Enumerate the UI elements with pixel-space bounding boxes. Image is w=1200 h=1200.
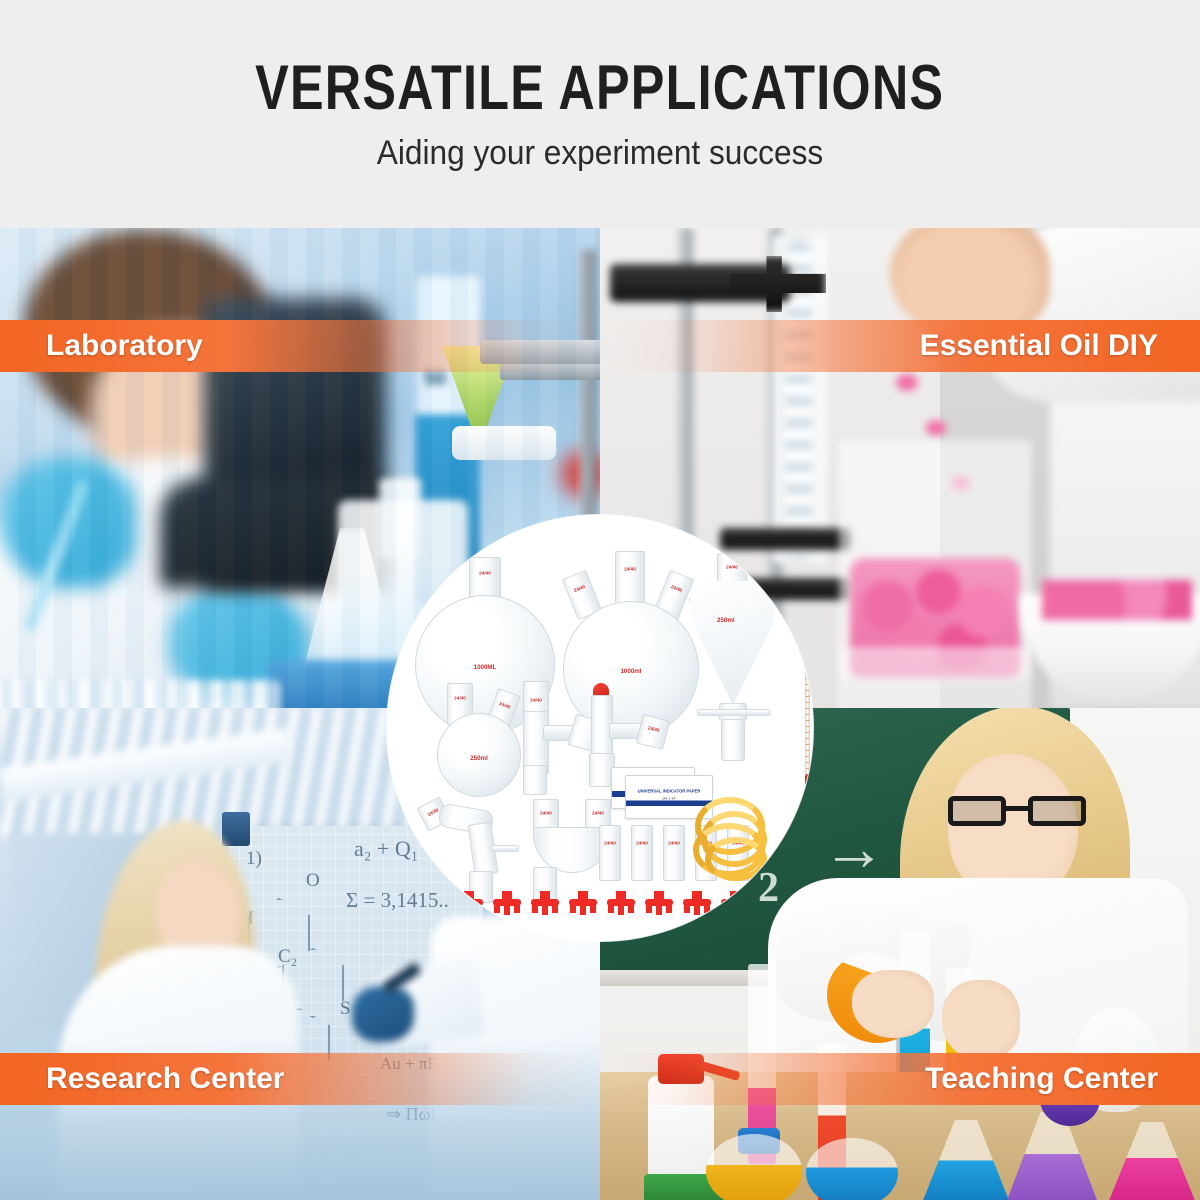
joint-clip: [607, 891, 635, 913]
pipette: [23, 479, 90, 634]
joint-label: 24/40: [604, 840, 616, 845]
eyeglass-lens-right: [1028, 796, 1086, 826]
label-band-teaching-center: Teaching Center: [600, 1053, 1200, 1105]
page-title: VERSATILE APPLICATIONS: [255, 55, 944, 121]
two-neck-round-bottom-flask: 250ml: [437, 713, 521, 797]
researcher-labcoat: [0, 458, 400, 708]
microscope-stage: [160, 478, 390, 588]
student-hand-right: [942, 980, 1020, 1060]
flask-volume-marking: 250ml: [470, 755, 488, 762]
board-clip: [222, 812, 250, 846]
eyeglass-bridge: [1006, 806, 1028, 811]
blue-glove-right: [170, 584, 310, 704]
stopcock: [452, 426, 556, 460]
glass-stopper: 24/40: [631, 825, 653, 881]
joint-label: 24/40: [427, 807, 440, 817]
page-header: VERSATILE APPLICATIONS Aiding your exper…: [0, 0, 1200, 228]
joint-label: 24/40: [592, 811, 604, 816]
falling-petal: [926, 420, 946, 436]
joint-label: 24/40: [647, 725, 660, 733]
joint-clip: [531, 891, 559, 913]
flask-center-neck: 24/40: [615, 551, 645, 607]
joint-label: 24/40: [726, 565, 738, 570]
funnel-stem: [721, 719, 745, 761]
rose-petals-in-bowl: [1042, 580, 1192, 620]
funnel-stopcock-arm: [697, 709, 771, 716]
joint-clip: [683, 891, 711, 913]
ph-box-title: UNIVERSAL INDICATOR PAPER: [638, 789, 701, 794]
board-note: O: [306, 870, 320, 892]
separatory-funnel: [689, 577, 777, 705]
panel-label-research-center: Research Center: [46, 1062, 284, 1096]
flask-blue: [806, 1138, 898, 1200]
joint-label: 24/40: [668, 840, 680, 845]
eyeglasses-icon: [948, 796, 1086, 826]
glass-stopper: 24/40: [599, 825, 621, 881]
panel-label-essential-oil: Essential Oil DIY: [920, 329, 1158, 363]
glass-stopper: 24/40: [663, 825, 685, 881]
joint-label: 24/40: [624, 566, 636, 571]
glassware-kit: 24/40 1000ML 24/40 24/40 24/40 1000ml 24…: [387, 515, 813, 941]
label-band-research-center: Research Center: [0, 1053, 600, 1105]
joint-clip: [417, 891, 445, 913]
ph-box-range: pH 1-14: [662, 797, 675, 801]
rubber-tubing-coil: [693, 793, 779, 879]
panel-label-teaching-center: Teaching Center: [925, 1062, 1158, 1096]
joint-label: 24/40: [540, 811, 552, 816]
vacuum-adapter-outlet: 24/40: [636, 714, 670, 750]
joint-clip: [455, 891, 483, 913]
distillation-adapter-bottom: [523, 765, 547, 795]
blue-glove-writing: [352, 986, 414, 1042]
joint-clip: [721, 891, 749, 913]
joint-label: 24/40: [636, 840, 648, 845]
red-background-blur: [556, 446, 600, 502]
thermometer-scale: [806, 552, 809, 780]
separatory-funnel-marking: 250ml: [717, 617, 735, 624]
panel-label-laboratory: Laboratory: [46, 329, 203, 363]
joint-label: 24/40: [530, 697, 542, 702]
eyeglass-lens-left: [948, 796, 1006, 826]
product-circle[interactable]: 24/40 1000ML 24/40 24/40 24/40 1000ml 24…: [387, 515, 813, 941]
joint-clip: [493, 891, 521, 913]
retort-stand: [580, 250, 596, 550]
joint-label: 24/40: [454, 695, 466, 700]
board-note: 1): [246, 848, 262, 870]
test-tubes: [0, 680, 280, 708]
joint-label: 24/40: [498, 701, 511, 710]
joint-label: 24/40: [479, 571, 491, 576]
thermometer: [805, 551, 810, 781]
flask-yellow: [706, 1134, 802, 1200]
condenser-inlet: [811, 611, 813, 618]
blue-glove-left: [0, 458, 135, 588]
joint-clip: [569, 891, 597, 913]
flask-volume-marking: 1000ml: [620, 668, 641, 675]
joint-label: 24/40: [670, 584, 683, 593]
label-band-laboratory: Laboratory: [0, 320, 600, 372]
label-band-essential-oil: Essential Oil DIY: [600, 320, 1200, 372]
page-subtitle: Aiding your experiment success: [377, 134, 823, 173]
falling-petal: [896, 374, 918, 391]
measuring-jug: [840, 648, 1030, 708]
student-hand-left: [852, 970, 934, 1038]
joint-label: 24/40: [573, 584, 586, 593]
joint-clip: [753, 891, 781, 913]
thermometer-bulb: [805, 774, 812, 786]
bent-adapter-side-arm: [491, 845, 519, 852]
tubing-loop: [705, 837, 767, 881]
joint-clip: [645, 891, 673, 913]
flask-volume-marking: 1000ML: [474, 664, 497, 671]
